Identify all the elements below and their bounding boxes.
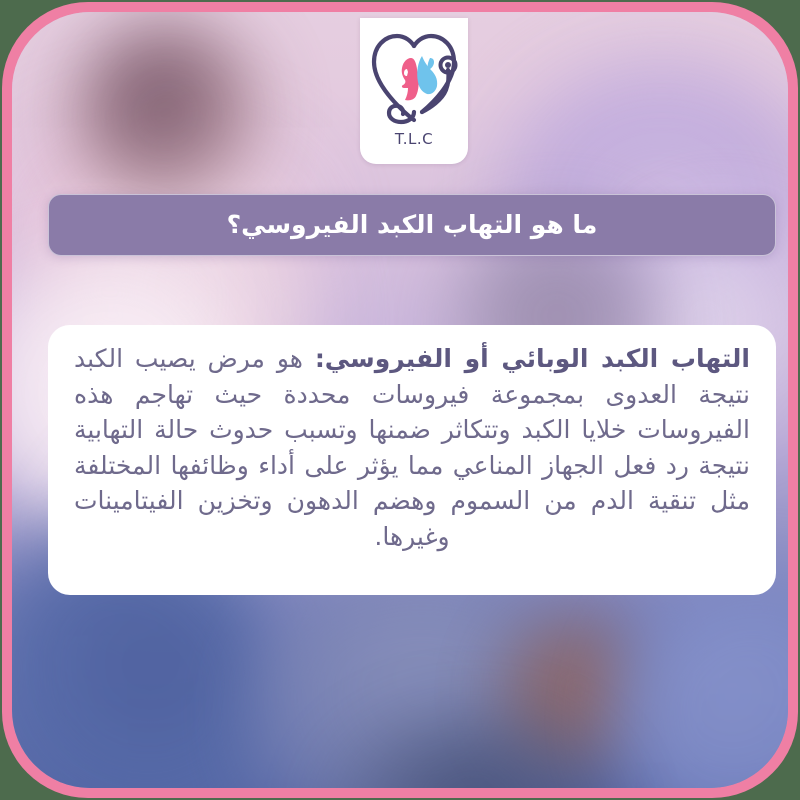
background-blur-nurse-head [72, 20, 262, 210]
poster-frame: T.L.C ما هو التهاب الكبد الفيروسي؟ التها… [2, 2, 798, 798]
logo-card: T.L.C [360, 18, 468, 164]
body-lead-term: التهاب الكبد الوبائي أو الفيروسي: [315, 344, 750, 373]
body-paragraph-text: هو مرض يصيب الكبد نتيجة العدوى بمجموعة ف… [74, 344, 750, 551]
logo-brand-text: T.L.C [395, 130, 433, 148]
page-title: ما هو التهاب الكبد الفيروسي؟ [227, 210, 598, 240]
body-text-card: التهاب الكبد الوبائي أو الفيروسي: هو مرض… [48, 325, 776, 595]
title-banner: ما هو التهاب الكبد الفيروسي؟ [48, 194, 776, 256]
heart-stethoscope-icon [364, 24, 464, 136]
poster-inner: T.L.C ما هو التهاب الكبد الفيروسي؟ التها… [12, 12, 788, 788]
body-paragraph: التهاب الكبد الوبائي أو الفيروسي: هو مرض… [74, 341, 750, 554]
